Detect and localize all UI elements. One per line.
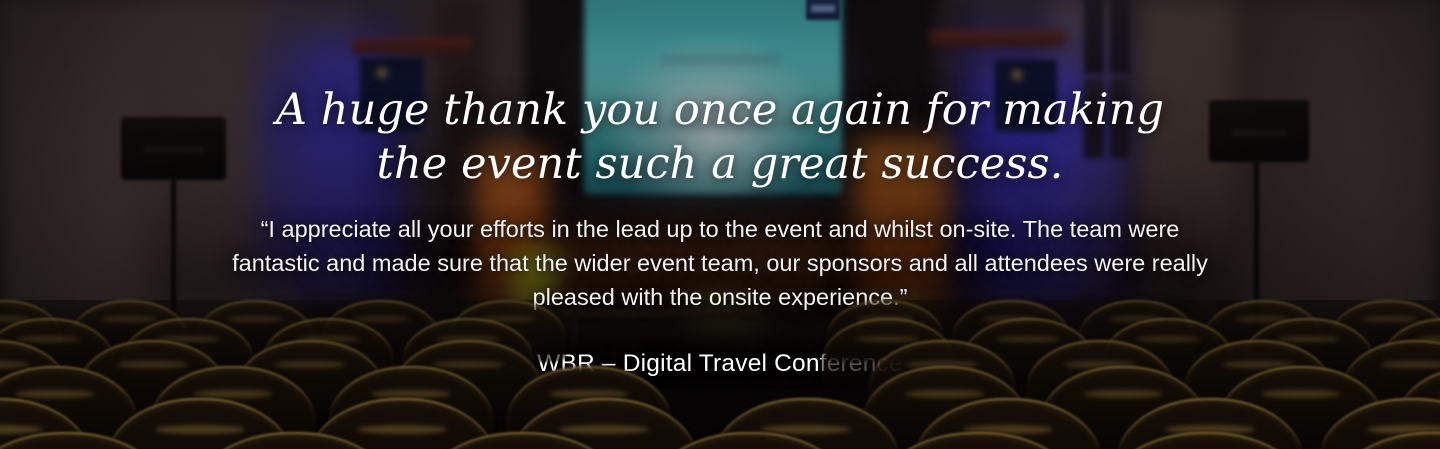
testimonial-banner: A huge thank you once again for making t… xyxy=(0,0,1440,449)
page-title: A huge thank you once again for making t… xyxy=(250,83,1190,191)
